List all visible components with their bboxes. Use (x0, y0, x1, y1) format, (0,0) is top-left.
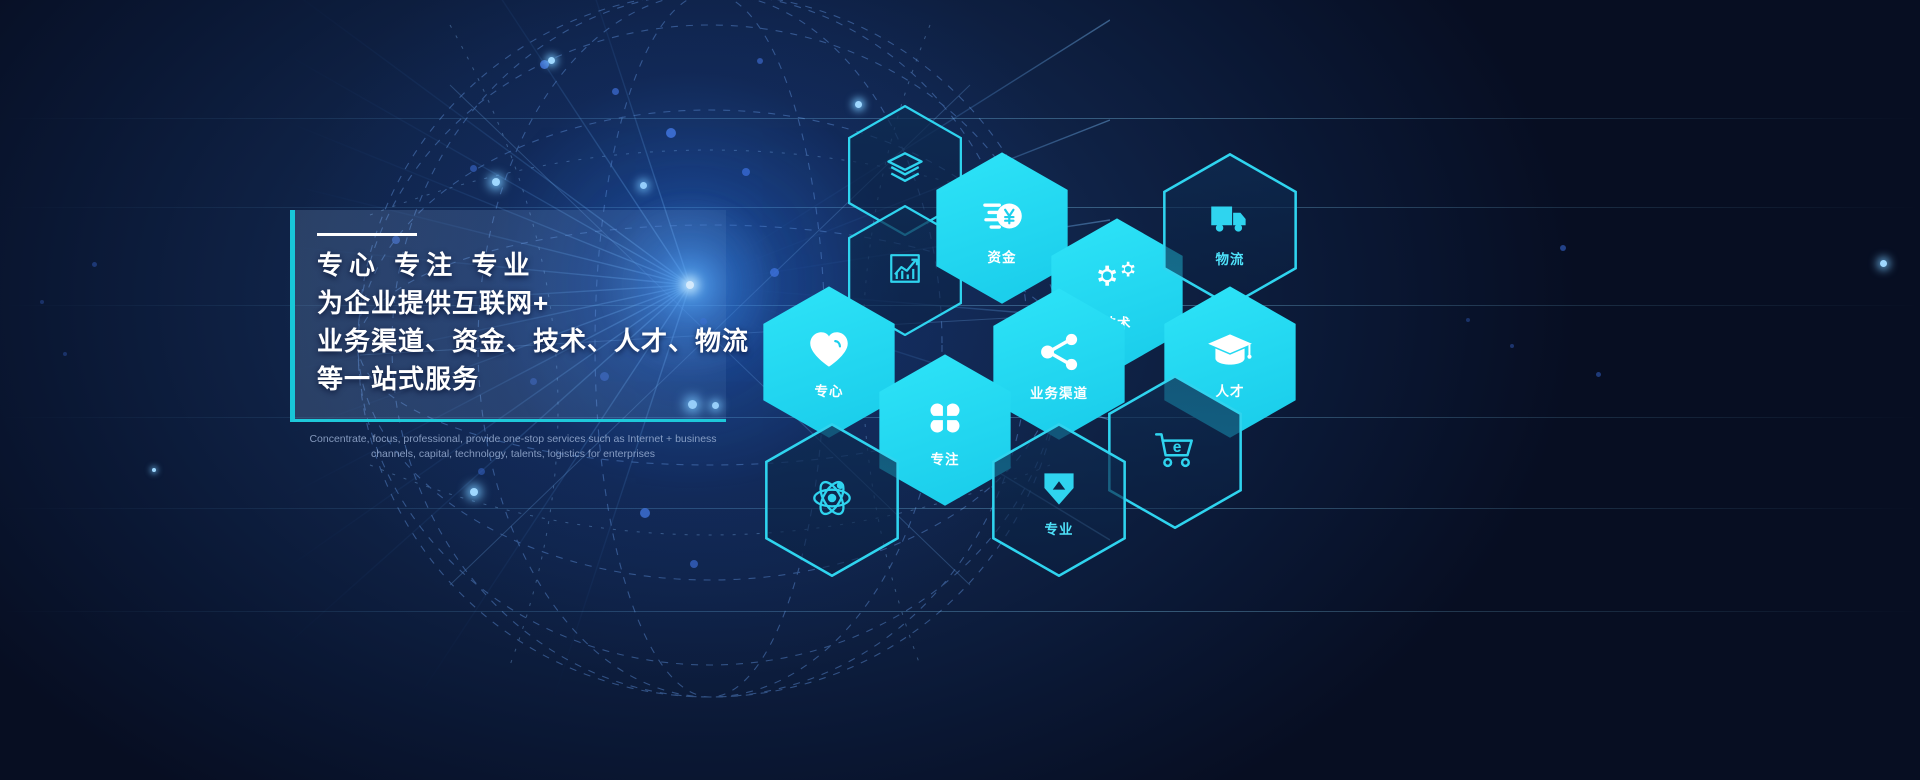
atom-icon (807, 473, 857, 523)
delivery-truck-icon (1205, 193, 1255, 243)
title-rule (317, 233, 417, 236)
headline-line-3: 业务渠道、资金、技术、人才、物流 (317, 322, 737, 360)
hexagon-atom[interactable] (765, 423, 899, 577)
subtitle-text: Concentrate, focus, professional, provid… (290, 432, 736, 462)
headline-line-4: 等一站式服务 (317, 360, 737, 398)
hexagon-capital[interactable]: 资金 (935, 151, 1069, 305)
hexagon-label: 业务渠道 (1030, 382, 1088, 402)
clover-icon (920, 393, 970, 443)
graduation-cap-icon (1205, 325, 1255, 375)
hexagon-pro[interactable]: 专业 (992, 423, 1126, 577)
layers-icon (883, 146, 927, 190)
diamond-icon (1034, 463, 1084, 513)
hexagon-focusheart[interactable]: 专心 (762, 285, 896, 439)
headline-text: 专心 专注 专业 为企业提供互联网+ 业务渠道、资金、技术、人才、物流 等一站式… (317, 246, 737, 398)
hexagon-channels[interactable]: 业务渠道 (992, 287, 1126, 441)
svg-text:e: e (1173, 439, 1182, 456)
hexagon-label: 资金 (988, 246, 1017, 266)
hexagon-label: 物流 (1216, 248, 1245, 268)
yen-money-icon (977, 191, 1027, 241)
ecart-icon: e (1150, 425, 1200, 475)
hero-banner: 专心 专注 专业 为企业提供互联网+ 业务渠道、资金、技术、人才、物流 等一站式… (0, 0, 1920, 780)
hexagon-label: 专心 (815, 380, 844, 400)
headline-panel: 专心 专注 专业 为企业提供互联网+ 业务渠道、资金、技术、人才、物流 等一站式… (290, 210, 726, 422)
hexagon-label: 专业 (1045, 518, 1074, 538)
hexagon-label: 专注 (931, 448, 960, 468)
scan-line (0, 611, 1920, 612)
heart-icon (804, 325, 854, 375)
growth-chart-icon (883, 246, 927, 290)
hexagon-cluster: 资金 技术 (740, 105, 1300, 525)
headline-line-2: 为企业提供互联网+ (317, 284, 737, 322)
hexagon-logistics[interactable]: 物流 (1163, 153, 1297, 307)
share-nodes-icon (1034, 327, 1084, 377)
headline-line-1: 专心 专注 专业 (317, 246, 737, 284)
hexagon-ecommerce[interactable]: e (1108, 375, 1242, 529)
